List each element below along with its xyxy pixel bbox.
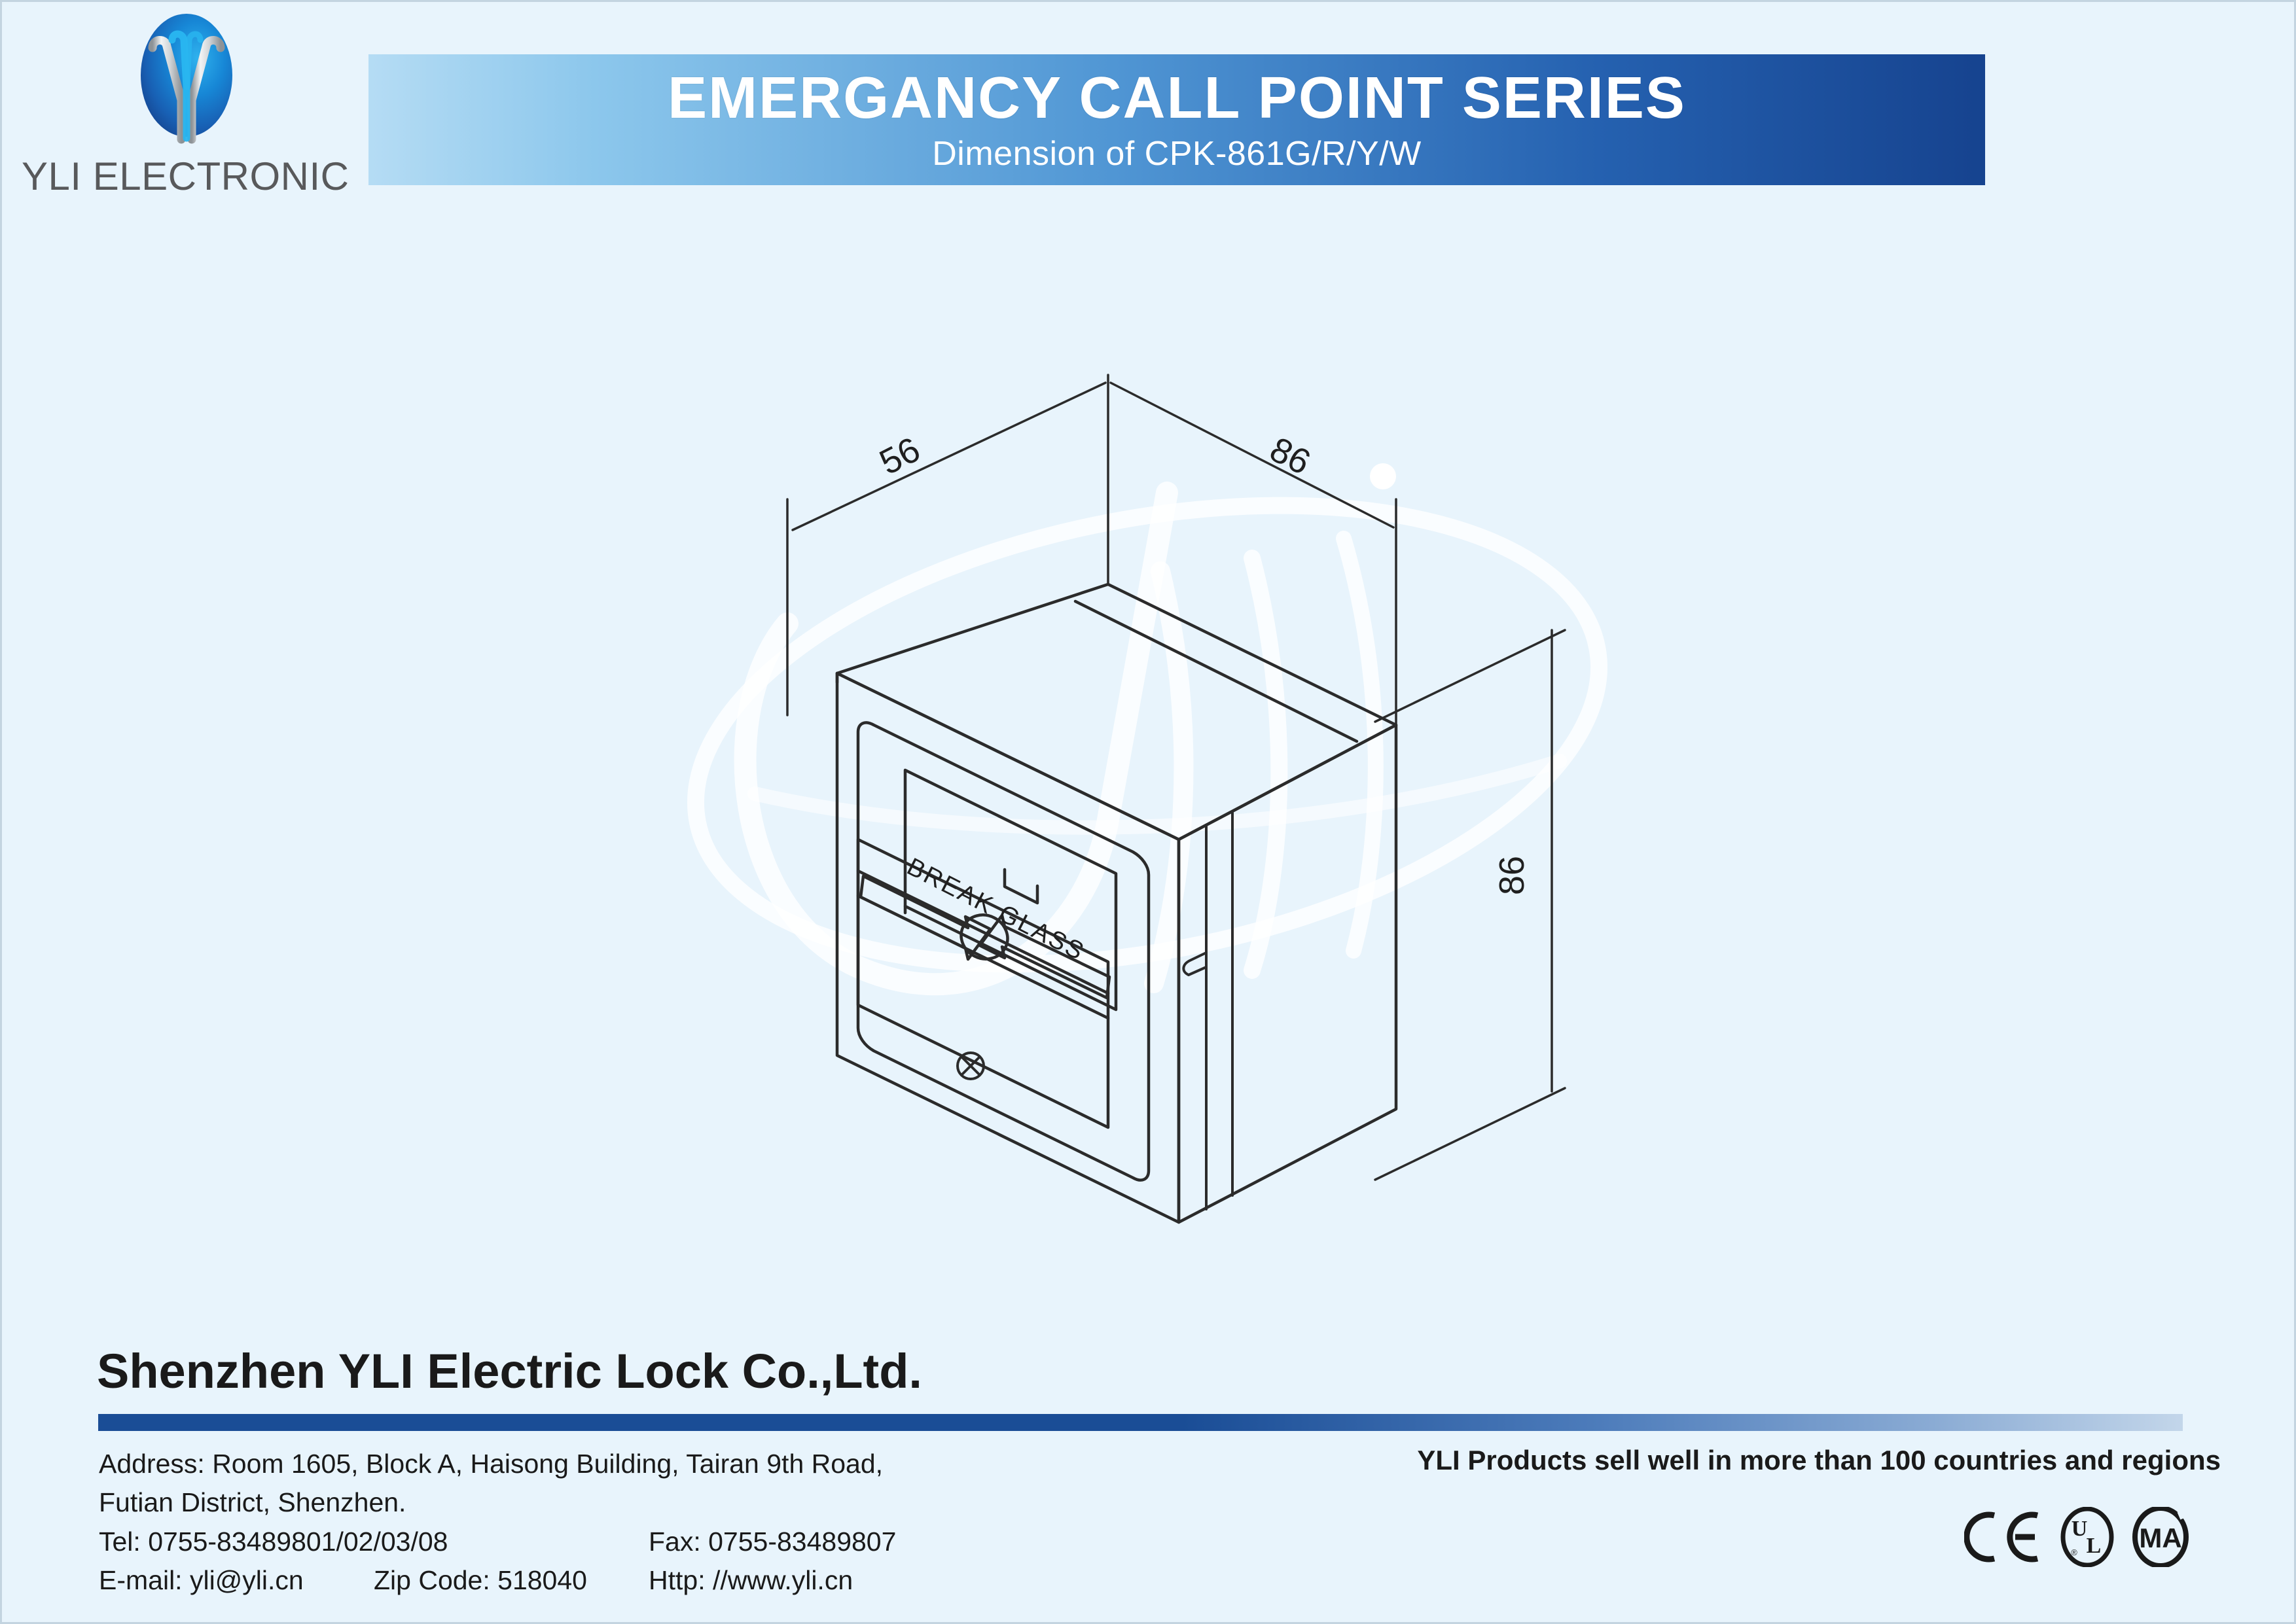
page-title: EMERGANCY CALL POINT SERIES	[668, 69, 1686, 128]
certification-marks: U L ® MA	[1964, 1507, 2189, 1567]
company-name: Shenzhen YLI Electric Lock Co.,Ltd.	[97, 1343, 922, 1399]
box-front-face	[837, 673, 1179, 1222]
page-subtitle: Dimension of CPK-861G/R/Y/W	[932, 137, 1422, 171]
header-banner: EMERGANCY CALL POINT SERIES Dimension of…	[368, 54, 1985, 185]
svg-text:L: L	[2087, 1534, 2102, 1558]
zip-code: Zip Code: 518040	[374, 1561, 649, 1600]
dimension-depth-label: 56	[873, 430, 926, 483]
ul-mark-icon: U L ®	[2060, 1507, 2115, 1567]
website[interactable]: Http: //www.yli.cn	[649, 1561, 853, 1600]
brand-name: YLI ELECTRONIC	[22, 154, 323, 199]
telephone: Tel: 0755-83489801/02/03/08	[99, 1523, 649, 1561]
svg-text:MA: MA	[2139, 1523, 2181, 1553]
address-line-1: Address: Room 1605, Block A, Haisong Bui…	[99, 1445, 1081, 1483]
address-line-2: Futian District, Shenzhen.	[99, 1483, 1081, 1522]
contact-info: Address: Room 1605, Block A, Haisong Bui…	[99, 1445, 1081, 1600]
footer-divider	[98, 1414, 2183, 1431]
side-latch-slot	[1183, 953, 1206, 975]
dimension-width-label: 86	[1264, 430, 1317, 483]
yli-y-logo-icon	[132, 14, 242, 152]
marketing-tagline: YLI Products sell well in more than 100 …	[1239, 1445, 2221, 1476]
brand-logo: YLI ELECTRONIC	[22, 9, 323, 198]
fax: Fax: 0755-83489807	[649, 1523, 896, 1561]
datasheet-page: YLI ELECTRONIC EMERGANCY CALL POINT SERI…	[0, 0, 2296, 1624]
svg-text:®: ®	[2071, 1547, 2077, 1557]
email[interactable]: E-mail: yli@yli.cn	[99, 1561, 374, 1600]
box-right-face	[1179, 725, 1396, 1222]
box-top-face	[837, 584, 1396, 839]
product-dimension-drawing: 56 86 86 BREAK GLASS	[709, 368, 1625, 1284]
tel-fax-line: Tel: 0755-83489801/02/03/08Fax: 0755-834…	[99, 1523, 1081, 1561]
ma-mark-icon: MA	[2132, 1507, 2189, 1567]
dimension-height-label: 86	[1492, 856, 1532, 895]
svg-text:U: U	[2072, 1517, 2088, 1541]
ce-mark-icon	[1964, 1509, 2043, 1565]
email-zip-web-line: E-mail: yli@yli.cnZip Code: 518040Http: …	[99, 1561, 1081, 1600]
